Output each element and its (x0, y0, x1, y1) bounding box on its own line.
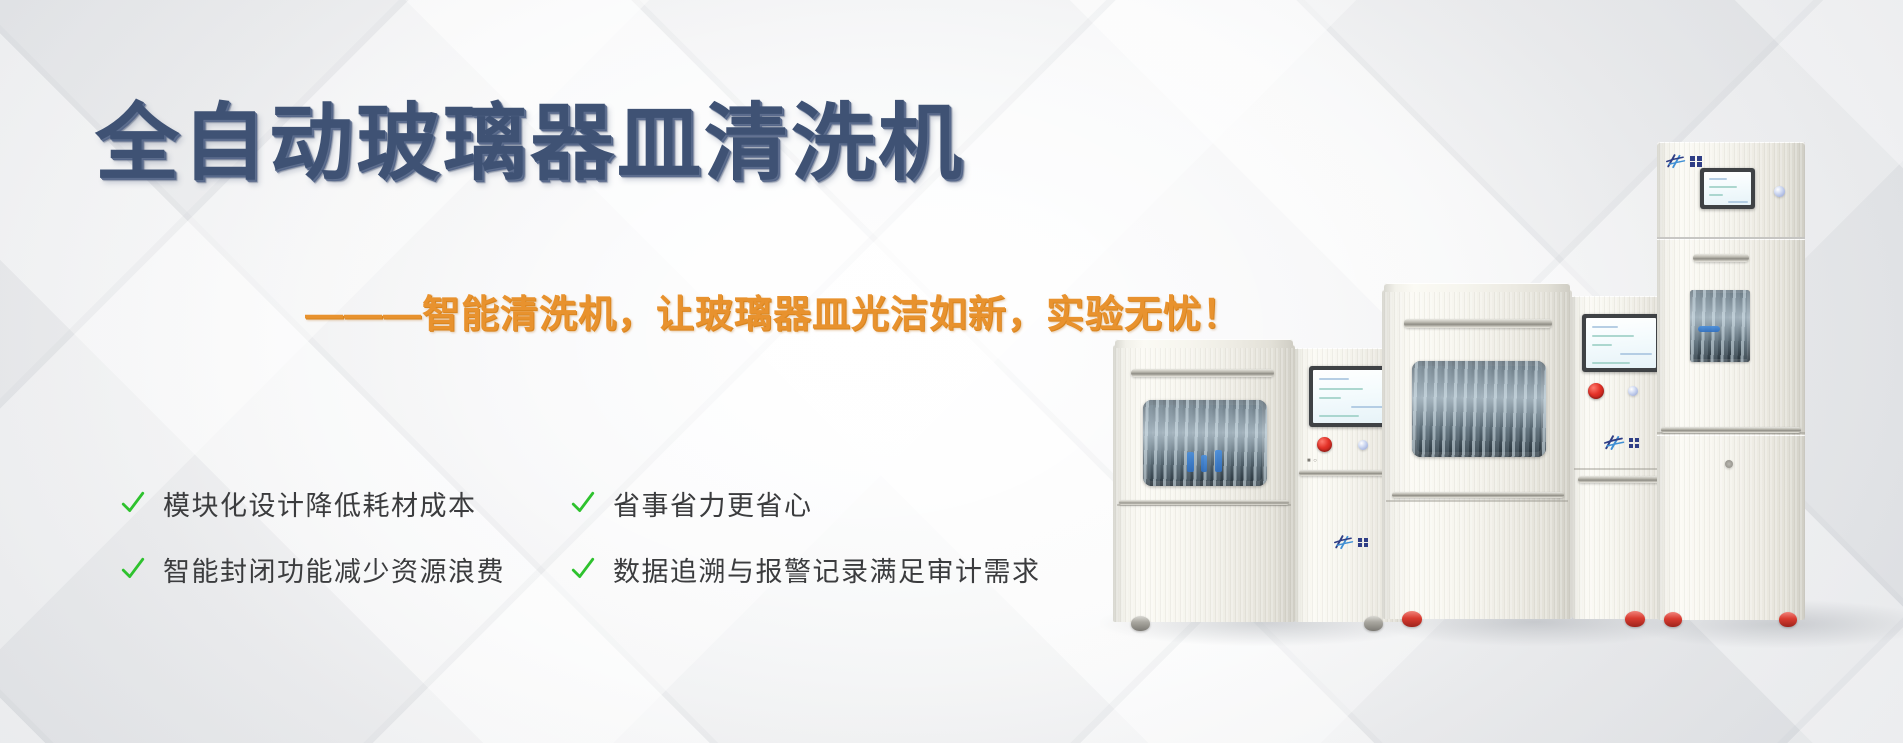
machine1-door-handle[interactable] (1131, 369, 1274, 377)
machine3-status-indicator[interactable] (1774, 186, 1785, 197)
machine2-viewing-window (1412, 361, 1546, 457)
machine2-caster-right (1625, 611, 1645, 627)
machine1-emergency-stop-button[interactable] (1317, 437, 1332, 452)
product-tall-column-glassware-washer[interactable] (1657, 142, 1805, 624)
machine3-caster-right (1779, 612, 1797, 627)
product-freestanding-glassware-washer[interactable] (1382, 277, 1672, 625)
machine2-screen-row-2 (1592, 335, 1634, 337)
machine2-top-cap (1384, 283, 1570, 292)
machine2-glassware-load (1412, 361, 1546, 457)
product-undercounter-glassware-washer[interactable]: ■ ○ (1113, 334, 1410, 624)
check-icon (120, 556, 146, 582)
machine1-screen-row-4 (1351, 406, 1385, 408)
machine3-blue-rack (1698, 326, 1720, 332)
machine2-column-seam (1574, 468, 1670, 470)
machine1-screen-row-2 (1319, 388, 1363, 390)
machine3-screen-row-2 (1709, 186, 1737, 188)
machine3-logo-dots (1690, 156, 1702, 168)
machine2-emergency-stop-button[interactable] (1588, 383, 1604, 399)
machine1-screen-row-3 (1319, 397, 1341, 399)
machine1-touchscreen[interactable] (1309, 366, 1393, 427)
machine1-logo-dots (1358, 538, 1368, 548)
feature-item-2-label: 省事省力更省心 (613, 484, 813, 523)
machine3-lower-port (1725, 460, 1733, 468)
machine2-status-indicator[interactable] (1628, 386, 1638, 396)
feature-item-1-label: 模块化设计降低耗材成本 (163, 484, 477, 523)
feature-item-4: 数据追溯与报警记录满足审计需求 (570, 550, 1041, 589)
feature-item-3-label: 智能封闭功能减少资源浪费 (163, 550, 505, 589)
machine1-caster-left (1131, 616, 1150, 631)
machine3-caster-left (1664, 612, 1682, 627)
machine1-lower-handle[interactable] (1119, 500, 1289, 505)
machine2-caster-left (1402, 611, 1422, 627)
machine2-touchscreen[interactable] (1582, 314, 1660, 372)
feature-item-1: 模块化设计降低耗材成本 (120, 484, 570, 523)
machine3-screen-row-3 (1709, 194, 1723, 196)
feature-item-4-label: 数据追溯与报警记录满足审计需求 (613, 550, 1041, 589)
machine2-drawer-handle[interactable] (1578, 476, 1666, 483)
machine2-door-handle[interactable] (1404, 319, 1552, 328)
check-icon (570, 556, 596, 582)
banner-copy-block: 全自动玻璃器皿清洗机 ———智能清洗机，让玻璃器皿光洁如新，实验无忧！ 模块化设… (0, 0, 1100, 743)
product-banner: ■ ○ (0, 0, 1903, 743)
machine2-screen-display (1586, 318, 1656, 368)
machine3-screen-row-4 (1728, 201, 1748, 203)
machine1-status-indicator[interactable] (1358, 440, 1368, 450)
check-icon (570, 490, 596, 516)
machine1-screen-row-1 (1319, 378, 1349, 380)
machine3-viewing-window (1690, 290, 1750, 362)
machine2-screen-row-4 (1620, 353, 1652, 355)
brand-logo-h-icon (1665, 153, 1687, 170)
machine1-brand-logo (1333, 534, 1368, 551)
machine1-glassware-load (1143, 400, 1267, 486)
machine2-screen-row-5 (1592, 362, 1630, 364)
machine3-screen-display (1704, 172, 1751, 205)
machine1-screen-row-5 (1319, 415, 1359, 417)
machine1-blue-rack-1 (1187, 452, 1194, 472)
feature-list: 模块化设计降低耗材成本 省事省力更省心 智能封闭功能减少资源浪费 数据追溯与报警… (120, 470, 1041, 602)
machine1-caster-right (1364, 616, 1383, 631)
machine2-screen-row-3 (1592, 344, 1612, 346)
machine2-brand-logo (1603, 434, 1639, 452)
machine3-lower-handle[interactable] (1661, 427, 1801, 433)
machine2-lower-door-handle[interactable] (1392, 492, 1564, 498)
machine1-viewing-window (1143, 400, 1267, 486)
machine1-screen-display (1313, 370, 1389, 423)
machine3-brand-logo (1665, 153, 1702, 170)
page-title: 全自动玻璃器皿清洗机 (95, 101, 965, 185)
brand-logo-h-icon (1333, 534, 1355, 551)
page-subtitle: ———智能清洗机，让玻璃器皿光洁如新，实验无忧！ (305, 296, 1241, 334)
machine3-screen-row-1 (1709, 178, 1727, 180)
brand-logo-h-icon (1603, 434, 1626, 452)
machine3-door-handle[interactable] (1693, 254, 1749, 262)
machine3-touchscreen[interactable] (1700, 168, 1755, 209)
feature-item-3: 智能封闭功能减少资源浪费 (120, 550, 570, 589)
machine1-panel-label: ■ ○ (1307, 458, 1317, 464)
machine2-door-seam (1386, 500, 1568, 502)
machine2-screen-row-1 (1592, 326, 1618, 328)
machine1-blue-rack-2 (1201, 455, 1207, 472)
machine1-top-cap (1115, 339, 1293, 348)
machine2-logo-dots (1629, 438, 1639, 448)
machine1-blue-rack-3 (1215, 450, 1222, 472)
check-icon (120, 490, 146, 516)
feature-item-2: 省事省力更省心 (570, 484, 1041, 523)
